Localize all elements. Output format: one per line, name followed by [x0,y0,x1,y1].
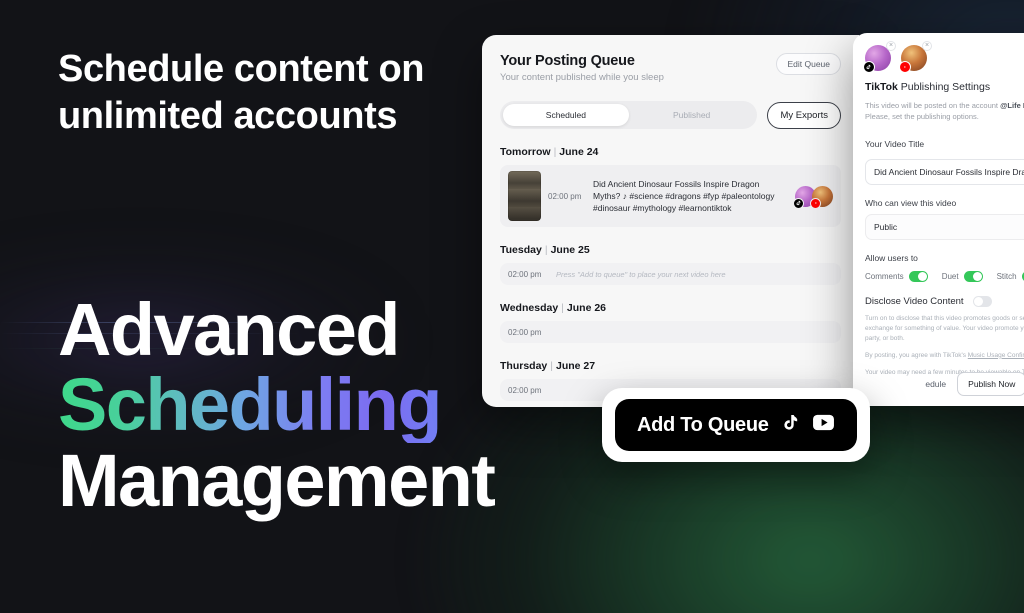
add-to-queue-button[interactable]: Add To Queue [615,399,857,451]
allow-users-toggles: Comments Duet Stitch [865,271,1024,282]
queue-header: Your Posting Queue Your content publishe… [500,53,841,83]
day-heading-tomorrow: Tomorrow|June 24 [500,146,841,158]
settings-card-actions: edule Publish Now Upd [865,372,1024,396]
slot-time: 02:00 pm [508,328,556,337]
toggle-stitch-label: Stitch [997,272,1017,281]
close-icon[interactable]: × [886,41,896,51]
toggle-duet-switch[interactable] [964,271,983,282]
slot-caption: Did Ancient Dinosaur Fossils Inspire Dra… [585,178,795,214]
day-date: June 27 [556,360,595,372]
video-title-label: Your Video Title [865,139,924,149]
tiktok-publishing-settings-card: × × TikTok Publishing Settings This vide… [853,33,1024,406]
toggle-comments-switch[interactable] [909,271,928,282]
slot-account-avatars[interactable] [795,186,833,207]
cta-platform-icons [783,412,835,438]
day-separator: | [547,360,556,372]
publish-now-button[interactable]: Publish Now [957,372,1024,396]
toggle-stitch[interactable]: Stitch [997,271,1024,282]
slot-hint: Press "Add to queue" to place your next … [556,270,726,279]
privacy-label: Who can view this video [865,198,1024,208]
settings-description-pre: This video will be posted on the account [865,101,1000,110]
slot-time: 02:00 pm [541,192,585,201]
queue-title: Your Posting Queue [500,53,664,69]
schedule-button[interactable]: edule [921,373,950,395]
tab-scheduled[interactable]: Scheduled [503,104,629,126]
hero-subheadline: Schedule content on unlimited accounts [58,46,488,140]
video-title-label-row: Your Video Title Gen [865,136,1024,153]
disclose-fine-print: Turn on to disclose that this video prom… [865,314,1024,344]
day-separator: | [542,244,551,256]
slot-time: 02:00 pm [508,386,556,395]
youtube-icon [812,413,835,437]
privacy-select[interactable]: Public [865,214,1024,240]
toggle-comments[interactable]: Comments [865,271,928,282]
toggle-duet[interactable]: Duet [942,271,983,282]
disclose-toggle-switch[interactable] [973,296,992,307]
day-heading-tuesday: Tuesday|June 25 [500,244,841,256]
settings-description: This video will be posted on the account… [865,100,1024,123]
day-name: Tomorrow [500,146,551,158]
day-date: June 25 [551,244,590,256]
day-heading-thursday: Thursday|June 27 [500,360,841,372]
queue-tab-group[interactable]: Scheduled Published [500,101,757,129]
music-usage-text: By posting, you agree with TikTok's [865,352,968,359]
youtube-icon [899,61,911,73]
queue-subtitle: Your content published while you sleep [500,72,664,83]
settings-account-name: @Life Hacks [1000,101,1024,110]
allow-users-label: Allow users to [865,253,1024,263]
edit-queue-button[interactable]: Edit Queue [776,53,841,75]
tiktok-icon [793,198,804,209]
settings-title-rest: Publishing Settings [898,81,990,93]
toggle-duet-label: Duet [942,272,959,281]
queue-slot-empty[interactable]: 02:00 pm [500,321,841,343]
music-usage-link[interactable]: Music Usage Confirmation [968,352,1024,359]
my-exports-button[interactable]: My Exports [767,102,841,129]
youtube-icon [810,198,821,209]
day-date: June 24 [559,146,598,158]
video-title-input[interactable]: Did Ancient Dinosaur Fossils Inspire Dra… [865,159,1024,185]
account-avatar-tiktok[interactable]: × [865,45,891,71]
connected-accounts-row: × × [865,43,1024,71]
day-name: Thursday [500,360,547,372]
day-name: Tuesday [500,244,542,256]
account-avatar-youtube[interactable]: × [901,45,927,71]
disclose-label: Disclose Video Content [865,296,964,307]
day-separator: | [551,146,560,158]
disclose-video-content-row[interactable]: Disclose Video Content [865,296,1024,307]
hero-headline-line-1: Advanced [58,288,399,371]
promo-screenshot: Schedule content on unlimited accounts A… [0,0,1024,613]
settings-title: TikTok Publishing Settings [865,81,1024,93]
queue-header-text: Your Posting Queue Your content publishe… [500,53,664,83]
video-thumbnail[interactable] [508,171,541,221]
hero-headline-line-3: Management [58,439,494,522]
posting-queue-card: Your Posting Queue Your content publishe… [482,35,859,407]
avatar[interactable] [812,186,833,207]
queue-slot-empty[interactable]: 02:00 pm Press "Add to queue" to place y… [500,263,841,285]
add-to-queue-cta: Add To Queue [602,388,870,462]
day-separator: | [558,302,567,314]
day-name: Wednesday [500,302,558,314]
day-date: June 26 [567,302,606,314]
slot-time: 02:00 pm [508,270,556,279]
queue-tabs-row: Scheduled Published My Exports [500,101,841,129]
tiktok-icon [783,412,802,438]
allow-users-label-text: Allow users to [865,253,918,263]
settings-title-brand: TikTok [865,81,898,93]
add-to-queue-label: Add To Queue [637,414,769,437]
toggle-comments-label: Comments [865,272,904,281]
queue-slot-filled[interactable]: 02:00 pm Did Ancient Dinosaur Fossils In… [500,165,841,227]
tiktok-icon [863,61,875,73]
music-usage-fine-print: By posting, you agree with TikTok's Musi… [865,351,1024,361]
close-icon[interactable]: × [922,41,932,51]
privacy-label-text: Who can view this video [865,198,956,208]
tab-published[interactable]: Published [629,104,755,126]
day-heading-wednesday: Wednesday|June 26 [500,302,841,314]
